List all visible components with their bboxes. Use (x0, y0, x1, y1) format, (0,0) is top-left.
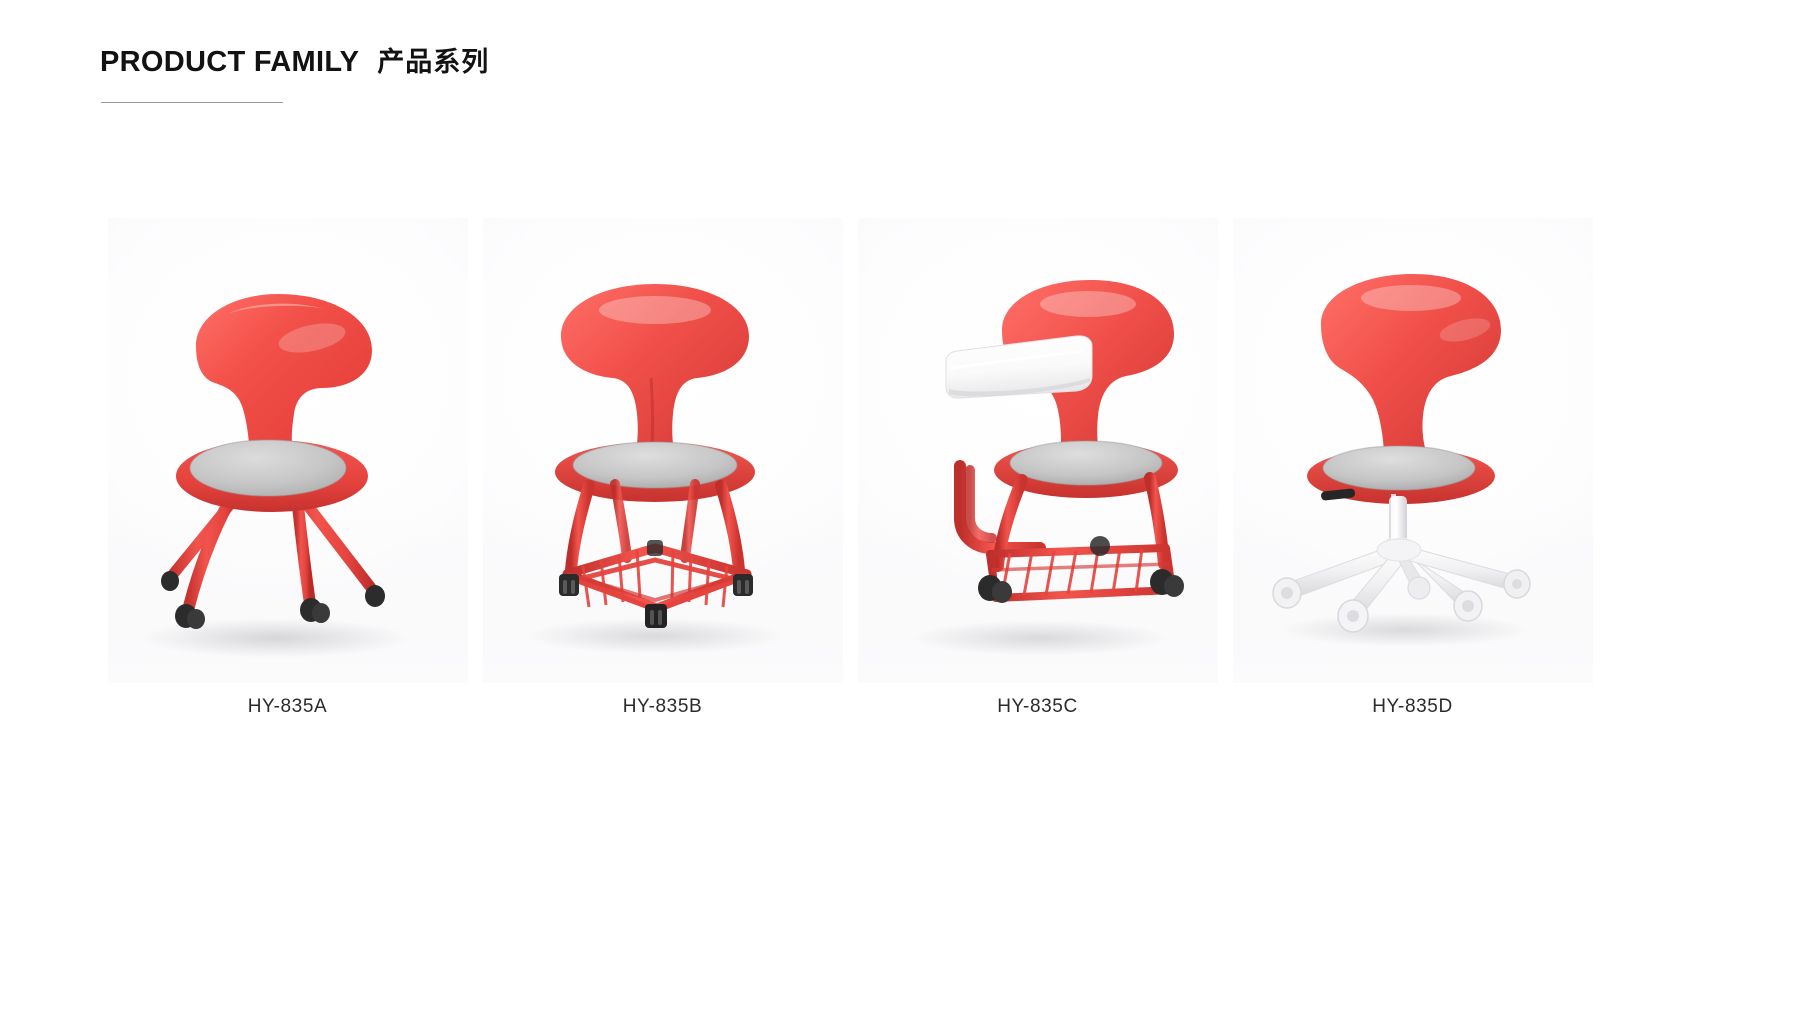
wire-basket (567, 548, 747, 610)
product-image-hy-835b (475, 218, 835, 683)
product-grid: HY-835A (100, 218, 1600, 838)
product-family-page: PRODUCT FAMILY 产品系列 (0, 0, 1800, 1013)
product-image-hy-835d (1225, 218, 1585, 683)
product-card-hy-835a[interactable]: HY-835A (100, 218, 475, 838)
page-title: PRODUCT FAMILY 产品系列 (100, 40, 489, 79)
product-card-hy-835d[interactable]: HY-835D (1225, 218, 1600, 838)
product-image-hy-835a (100, 218, 460, 683)
page-header: PRODUCT FAMILY 产品系列 (100, 40, 489, 79)
title-underline-rule (101, 102, 283, 103)
product-card-hy-835b[interactable]: HY-835B (475, 218, 850, 838)
wire-basket (990, 548, 1172, 598)
page-title-chinese: 产品系列 (377, 40, 489, 79)
product-card-hy-835c[interactable]: HY-835C (850, 218, 1225, 838)
product-label-hy-835a: HY-835A (100, 696, 475, 718)
tablet-arm (946, 336, 1092, 398)
product-label-hy-835b: HY-835B (475, 696, 850, 718)
product-image-hy-835c (850, 218, 1210, 683)
product-label-hy-835d: HY-835D (1225, 696, 1600, 718)
product-label-hy-835c: HY-835C (850, 696, 1225, 718)
page-title-english: PRODUCT FAMILY (100, 46, 359, 79)
